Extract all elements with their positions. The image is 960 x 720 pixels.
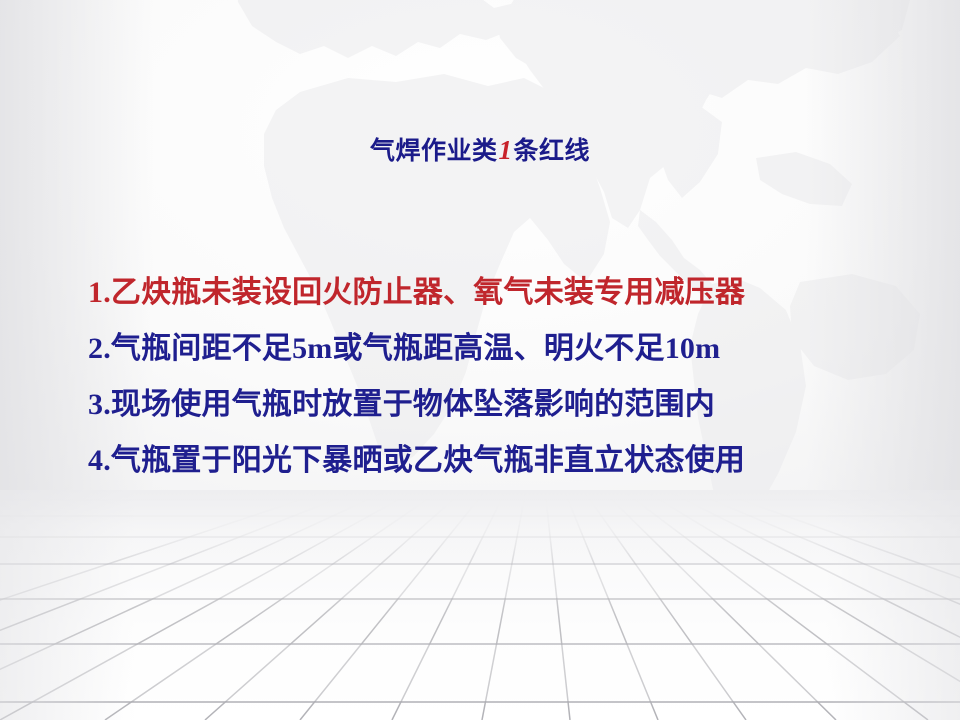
title-container: 气焊作业类1条红线 [0, 134, 960, 167]
list-item: 1.乙炔瓶未装设回火防止器、氧气未装专用减压器 [88, 265, 920, 321]
title-prefix: 气焊作业类 [370, 138, 498, 165]
rule-text-4: 4.气瓶置于阳光下暴晒或乙炔气瓶非直立状态使用 [88, 444, 745, 477]
title-suffix: 条红线 [514, 138, 591, 165]
title-count-accent: 1 [498, 135, 514, 165]
presentation-slide: 气焊作业类1条红线 1.乙炔瓶未装设回火防止器、氧气未装专用减压器 2.气瓶间距… [0, 0, 960, 720]
list-item: 3.现场使用气瓶时放置于物体坠落影响的范围内 [88, 377, 920, 433]
red-line-list: 1.乙炔瓶未装设回火防止器、氧气未装专用减压器 2.气瓶间距不足5m或气瓶距高温… [88, 265, 920, 489]
slide-title: 气焊作业类1条红线 [370, 134, 590, 167]
rule-text-3: 3.现场使用气瓶时放置于物体坠落影响的范围内 [88, 388, 715, 421]
floor-edge-shading [0, 490, 960, 720]
list-item: 4.气瓶置于阳光下暴晒或乙炔气瓶非直立状态使用 [88, 433, 920, 489]
list-item: 2.气瓶间距不足5m或气瓶距高温、明火不足10m [88, 321, 920, 377]
rule-text-2: 2.气瓶间距不足5m或气瓶距高温、明火不足10m [88, 332, 720, 365]
perspective-floor [0, 490, 960, 720]
rule-text-1: 1.乙炔瓶未装设回火防止器、氧气未装专用减压器 [88, 276, 745, 309]
